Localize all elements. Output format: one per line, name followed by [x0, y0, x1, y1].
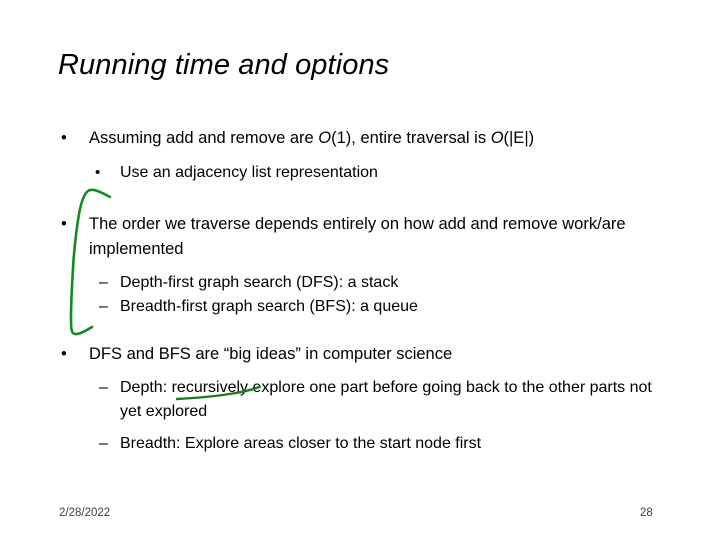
bullet-item-assuming: • Assuming add and remove are O(1), enti…	[58, 126, 666, 151]
bullet-text: Assuming add and remove are O(1), entire…	[89, 129, 534, 147]
bullet-glyph-dash: –	[99, 376, 108, 400]
slide-body: • Assuming add and remove are O(1), enti…	[58, 126, 666, 456]
bullet-glyph-dot: •	[61, 342, 67, 367]
big-o-symbol: O	[318, 129, 331, 147]
bullet-text: The order we traverse depends entirely o…	[89, 215, 626, 258]
spacer	[58, 368, 666, 376]
bullet-glyph-dash: –	[99, 271, 108, 295]
spacer	[58, 319, 666, 342]
spacer	[58, 424, 666, 432]
footer-date: 2/28/2022	[59, 506, 110, 520]
bullet-glyph-dot: •	[95, 160, 100, 185]
bullet-glyph-dash: –	[99, 432, 108, 456]
footer-page-number: 28	[640, 506, 680, 520]
bullet-text-seg: (|E|)	[504, 129, 535, 147]
sub-bullet-text: Depth-first graph search (DFS): a stack	[120, 274, 398, 291]
bullet-glyph-dot: •	[61, 126, 67, 151]
sub-bullet-text: Depth: recursively explore one part befo…	[120, 379, 652, 420]
bullet-item-traversal-order: • The order we traverse depends entirely…	[58, 212, 666, 262]
spacer	[58, 185, 666, 212]
sub-bullet-item-dfs: – Depth-first graph search (DFS): a stac…	[58, 271, 666, 295]
bullet-item-big-ideas: • DFS and BFS are “big ideas” in compute…	[58, 342, 666, 367]
page-title: Running time and options	[58, 48, 668, 82]
sub-bullet-item-breadth: – Breadth: Explore areas closer to the s…	[58, 432, 666, 456]
bullet-text: DFS and BFS are “big ideas” in computer …	[89, 345, 452, 363]
big-o-symbol: O	[491, 129, 504, 147]
spacer	[58, 152, 666, 160]
bullet-glyph-dot: •	[61, 212, 67, 237]
bullet-text-seg: (1), entire traversal is	[331, 129, 491, 147]
sub-bullet-item-adjacency-list: • Use an adjacency list representation	[58, 160, 666, 185]
sub-bullet-item-depth: – Depth: recursively explore one part be…	[58, 376, 666, 424]
bullet-glyph-dash: –	[99, 295, 108, 319]
sub-bullet-text: Breadth: Explore areas closer to the sta…	[120, 435, 481, 452]
spacer	[58, 263, 666, 271]
sub-bullet-text: Breadth-first graph search (BFS): a queu…	[120, 298, 418, 315]
slide-canvas: Running time and options • Assuming add …	[0, 0, 720, 540]
bullet-text-seg: Assuming add and remove are	[89, 129, 318, 147]
sub-bullet-item-bfs: – Breadth-first graph search (BFS): a qu…	[58, 295, 666, 319]
sub-bullet-text: Use an adjacency list representation	[120, 164, 378, 181]
